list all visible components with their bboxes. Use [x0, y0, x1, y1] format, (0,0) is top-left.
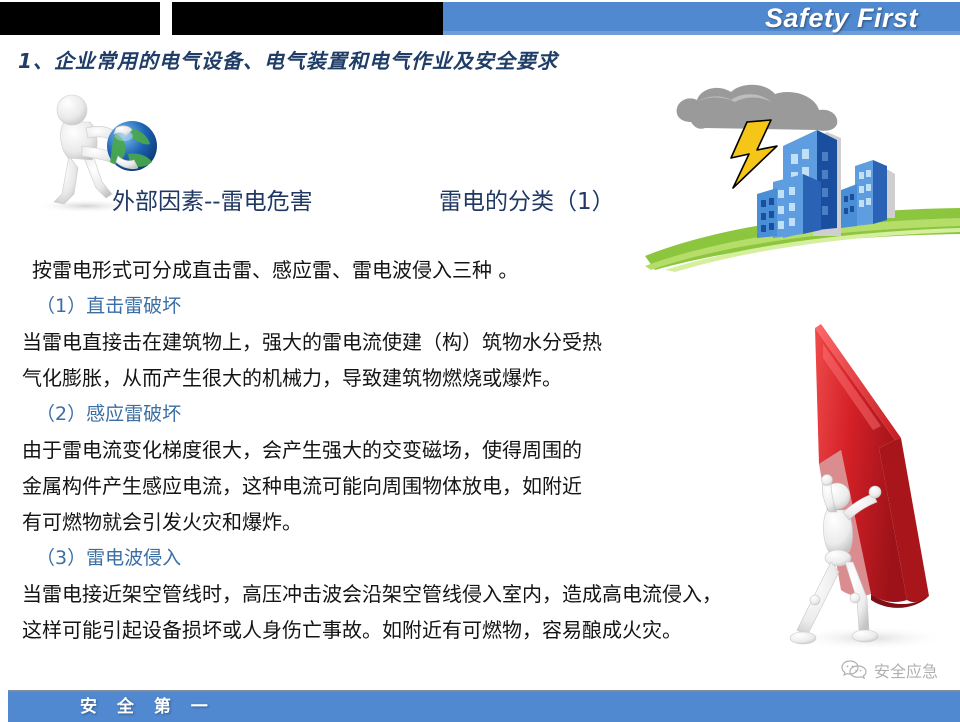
building-low: [757, 188, 777, 238]
section-3-line-2: 这样可能引起设备损坏或人身伤亡事故。如附近有可燃物，容易酿成火灾。: [22, 612, 802, 648]
building-right: [841, 160, 887, 228]
body-content: 按雷电形式可分成直击雷、感应雷、雷电波侵入三种 。 （1）直击雷破坏 当雷电直接…: [22, 252, 802, 648]
section-heading-3: （3）雷电波侵入: [22, 540, 802, 576]
banner-black-block-right: [172, 2, 443, 35]
section-2-line-3: 有可燃物就会引发火灾和爆炸。: [22, 504, 802, 540]
banner-black-block-left: [0, 2, 160, 35]
page-title: 1、企业常用的电气设备、电气装置和电气作业及安全要求: [18, 45, 558, 74]
section-heading-1: （1）直击雷破坏: [22, 288, 802, 324]
footer-label: 安 全 第 一: [80, 692, 215, 722]
wechat-bubble-icon: [841, 659, 867, 681]
lightning-bolt-icon: [731, 120, 777, 188]
section-1-line-1: 当雷电直接击在建筑物上，强大的雷电流使建（构）筑物水分受热: [22, 324, 802, 360]
storm-city-illustration: [645, 78, 960, 273]
section-2-line-1: 由于雷电流变化梯度很大，会产生强大的交变磁场，使得周围的: [22, 432, 802, 468]
section-heading-2: （2）感应雷破坏: [22, 396, 802, 432]
section-1-line-2: 气化膨胀，从而产生很大的机械力，导致建筑物燃烧或爆炸。: [22, 360, 802, 396]
section-2-line-2: 金属构件产生感应电流，这种电流可能向周围物体放电，如附近: [22, 468, 802, 504]
subtitle-left: 外部因素--雷电危害: [112, 182, 313, 216]
brand-title: Safety First: [765, 2, 918, 35]
wechat-watermark: 安全应急: [841, 658, 938, 682]
arrow-figure-illustration: [775, 300, 960, 665]
subtitle-row: 外部因素--雷电危害 雷电的分类（1）: [112, 182, 732, 214]
top-banner: Safety First: [0, 0, 960, 35]
watermark-label: 安全应急: [874, 658, 938, 682]
building-mid: [773, 174, 821, 238]
subtitle-right: 雷电的分类（1）: [439, 182, 615, 216]
body-lead-line: 按雷电形式可分成直击雷、感应雷、雷电波侵入三种 。: [22, 252, 802, 288]
footer-bar: 安 全 第 一: [8, 690, 960, 722]
section-3-line-1: 当雷电接近架空管线时，高压冲击波会沿架空管线侵入室内，造成高电流侵入，: [22, 576, 802, 612]
